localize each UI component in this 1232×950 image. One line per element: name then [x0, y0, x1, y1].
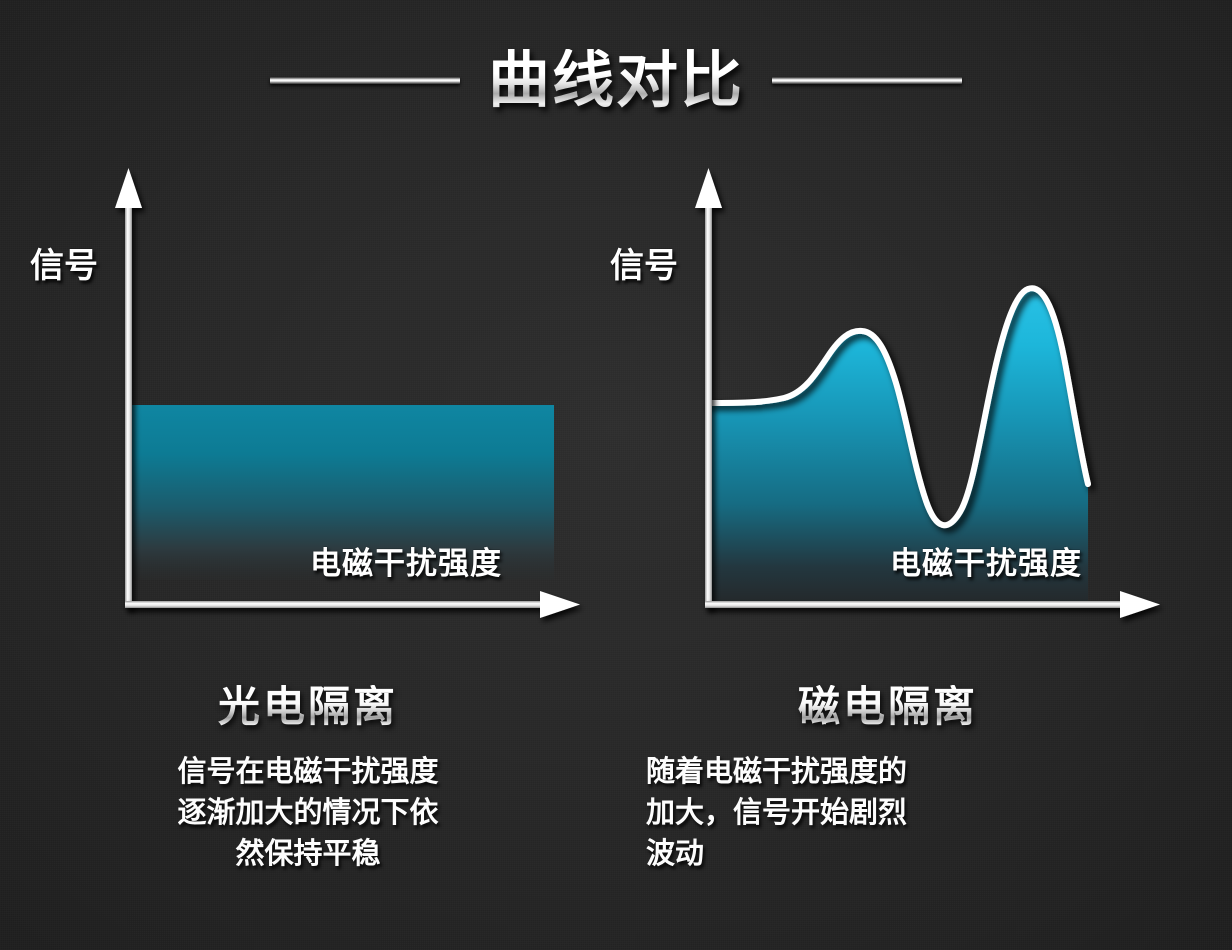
y-axis-arrow-icon	[695, 168, 722, 208]
panel-optoelectronic: 信号 电磁干扰强度 光电隔离 信号在电磁干扰强度 逐渐加大的情况下依 然保持平稳	[8, 160, 608, 950]
caption-title: 磁电隔离	[588, 685, 1188, 729]
chart-optoelectronic	[8, 160, 608, 630]
panel-magnetoelectric: 信号 电磁干扰强度 磁电隔离 随着电磁干扰强度的 加大，信号开始剧烈 波动	[588, 160, 1188, 950]
caption-description: 信号在电磁干扰强度 逐渐加大的情况下依 然保持平稳	[8, 751, 608, 875]
slide-canvas: 曲线对比	[0, 0, 1232, 950]
y-axis-label: 信号	[30, 238, 98, 287]
title-decoration-line-right	[772, 77, 962, 84]
x-axis-label: 电磁干扰强度	[310, 538, 502, 583]
y-axis-label: 信号	[610, 238, 678, 287]
x-axis	[125, 591, 580, 618]
x-axis-label: 电磁干扰强度	[890, 538, 1082, 583]
page-title: 曲线对比	[488, 49, 744, 111]
title-decoration-line-left	[270, 77, 460, 84]
chart-magnetoelectric	[588, 160, 1188, 630]
page-title-row: 曲线对比	[0, 40, 1232, 120]
caption-description: 随着电磁干扰强度的 加大，信号开始剧烈 波动	[588, 751, 1188, 875]
caption-title: 光电隔离	[8, 685, 608, 729]
x-axis-arrow-icon	[1120, 591, 1160, 618]
x-axis-arrow-icon	[540, 591, 580, 618]
y-axis-arrow-icon	[115, 168, 142, 208]
caption-magnetoelectric: 磁电隔离 随着电磁干扰强度的 加大，信号开始剧烈 波动	[588, 685, 1188, 875]
caption-optoelectronic: 光电隔离 信号在电磁干扰强度 逐渐加大的情况下依 然保持平稳	[8, 685, 608, 875]
